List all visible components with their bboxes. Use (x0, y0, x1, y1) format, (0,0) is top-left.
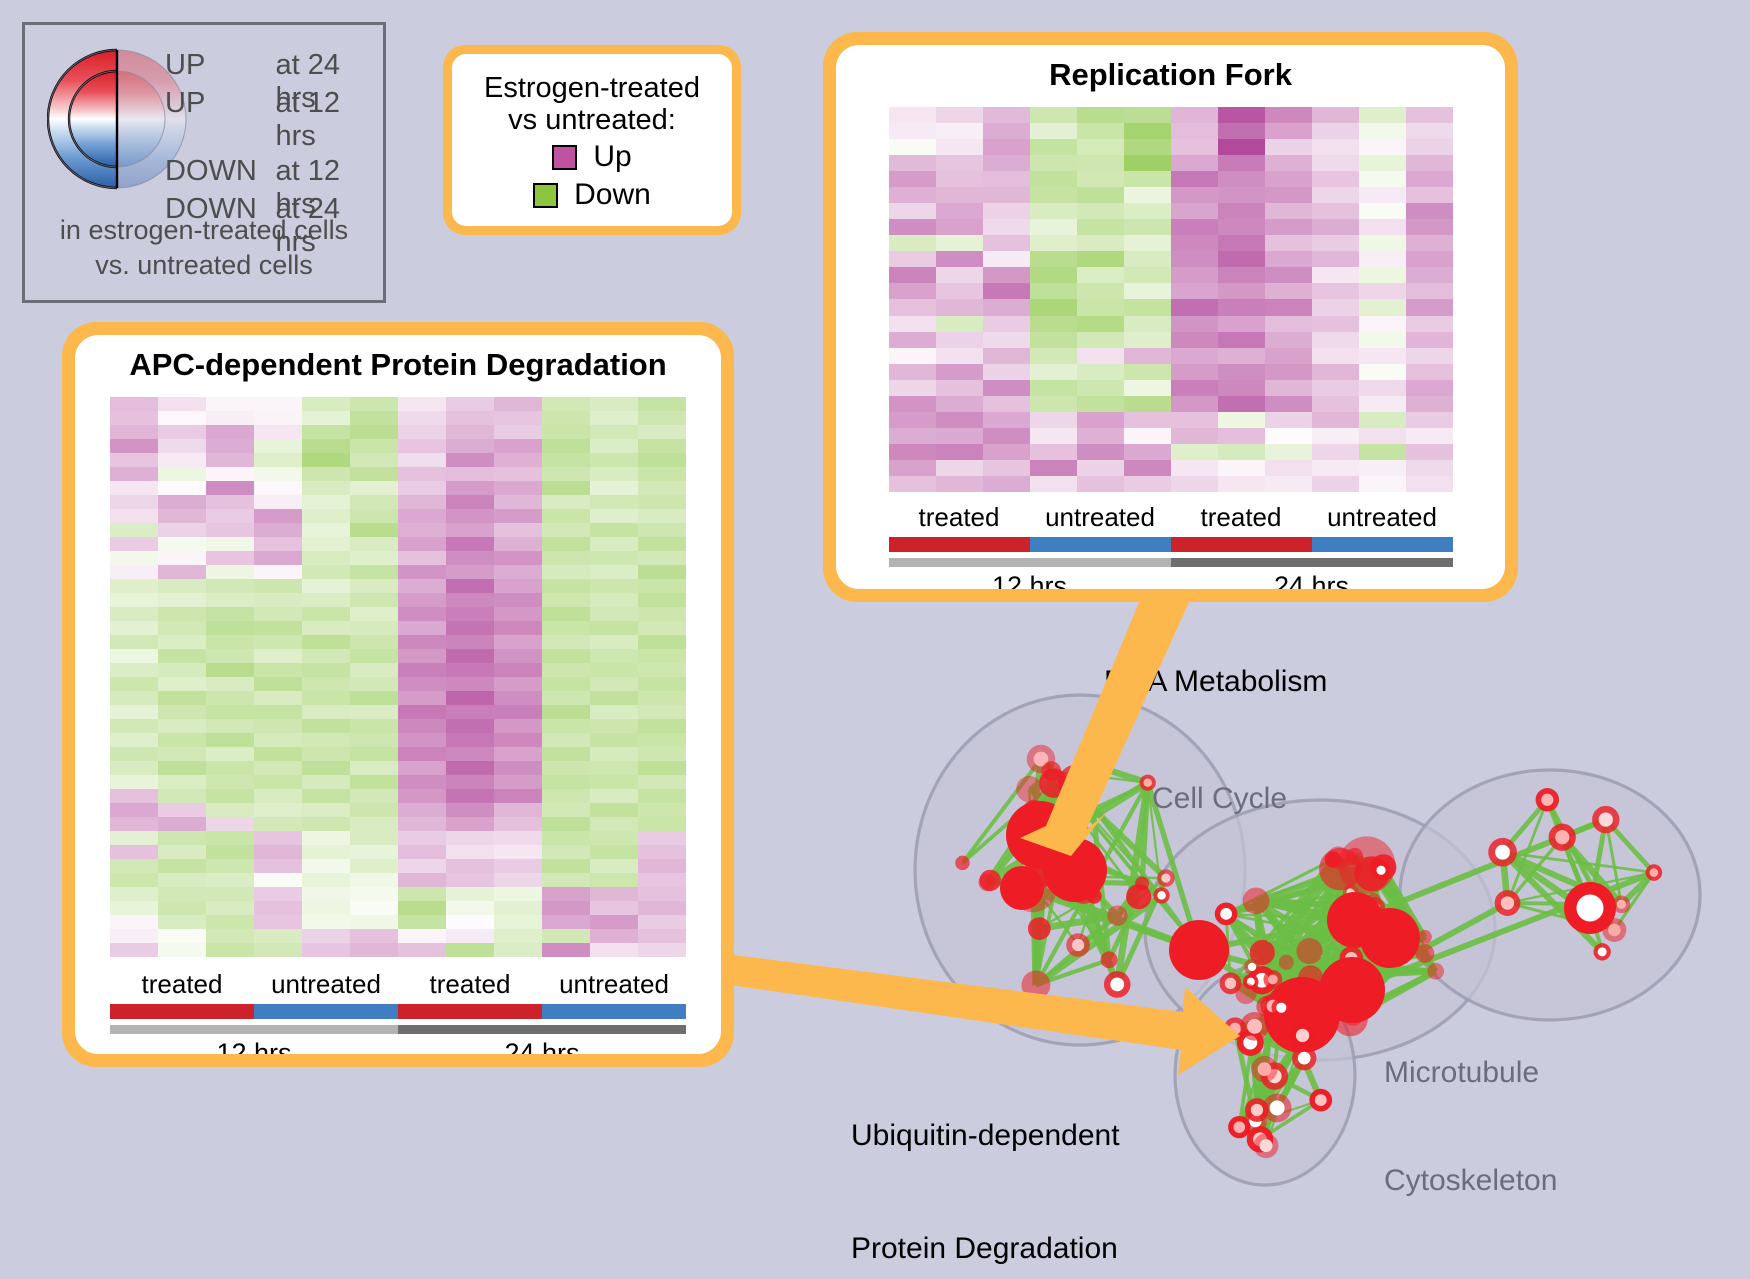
heatmap-cell (542, 705, 590, 719)
heatmap-cell (494, 579, 542, 593)
heatmap-cell (1030, 203, 1077, 219)
heatmap-cell (398, 761, 446, 775)
heatmap-cell (1077, 444, 1124, 460)
heatmap-cell (1124, 412, 1171, 428)
heatmap-cell (1312, 348, 1359, 364)
heatmap-cell (542, 901, 590, 915)
heatmap-cell (158, 705, 206, 719)
heatmap-cell (110, 887, 158, 901)
heatmap-cell (158, 943, 206, 957)
heatmap-cell (110, 621, 158, 635)
heatmap-cell (1406, 428, 1453, 444)
heatmap-cell (494, 523, 542, 537)
heatmap-cell (446, 523, 494, 537)
heatmap-cell (1265, 139, 1312, 155)
heatmap-cell (889, 476, 936, 492)
legend-row: UP at 24 hrs (165, 49, 383, 87)
heatmap-cell (158, 845, 206, 859)
heatmap-cell (110, 831, 158, 845)
heatmap-cell (590, 635, 638, 649)
heatmap-cell (110, 439, 158, 453)
heatmap-cell (206, 691, 254, 705)
heatmap-cell (350, 579, 398, 593)
heatmap-cell (1124, 476, 1171, 492)
heatmap-cell (590, 831, 638, 845)
heatmap-cell (542, 481, 590, 495)
heatmap-cell (983, 139, 1030, 155)
heatmap-cell (1265, 187, 1312, 203)
heatmap-cell (254, 901, 302, 915)
network-node (1028, 917, 1051, 940)
heatmap-cell (1312, 123, 1359, 139)
heatmap-cell (542, 873, 590, 887)
heatmap-cell (206, 789, 254, 803)
heatmap-cell (350, 677, 398, 691)
heatmap-cell (254, 705, 302, 719)
axis-group-swatch-treated (398, 1004, 542, 1019)
heatmap-cell (1312, 460, 1359, 476)
network-node (978, 874, 995, 891)
heatmap-cell (889, 396, 936, 412)
axis-group-swatch-untreated (1312, 537, 1453, 552)
heatmap-cell (1218, 187, 1265, 203)
heatmap-cell (590, 901, 638, 915)
heatmap-cell (983, 460, 1030, 476)
heatmap-cell (1124, 187, 1171, 203)
heatmap-cell (110, 929, 158, 943)
heatmap-cell (494, 943, 542, 957)
network-node (1592, 806, 1619, 833)
cluster-label-line1: Ubiquitin-dependent (851, 1117, 1120, 1155)
heatmap-cell (110, 523, 158, 537)
heatmap-cell (350, 873, 398, 887)
heatmap-cell (1312, 267, 1359, 283)
heatmap-cell (1312, 107, 1359, 123)
heatmap-cell (1171, 380, 1218, 396)
legend-down-label: Down (574, 178, 651, 212)
heatmap-cell (110, 649, 158, 663)
heatmap-cell (590, 789, 638, 803)
heatmap-cell (206, 495, 254, 509)
heatmap-cell (1359, 299, 1406, 315)
legend-direction-label: UP (165, 87, 276, 120)
heatmap-cell (983, 364, 1030, 380)
heatmap-cell (1218, 396, 1265, 412)
heatmap-cell (1312, 299, 1359, 315)
heatmap-cell (638, 593, 686, 607)
heatmap-cell (638, 635, 686, 649)
heatmap-cell (254, 621, 302, 635)
heatmap-cell (206, 705, 254, 719)
heatmap-cell (158, 635, 206, 649)
heatmap-cell (638, 579, 686, 593)
heatmap-cell (254, 397, 302, 411)
heatmap-cell (158, 901, 206, 915)
heatmap-cell (1359, 283, 1406, 299)
heatmap-cell (254, 887, 302, 901)
heatmap-cell (1171, 203, 1218, 219)
heatmap-cell (983, 316, 1030, 332)
heatmap-cell (206, 677, 254, 691)
heatmap-cell (590, 705, 638, 719)
cluster-label-cell-cycle: Cell Cycle (1152, 782, 1287, 816)
heatmap-cell (590, 453, 638, 467)
heatmap-cell (542, 453, 590, 467)
heatmap-cell (1077, 235, 1124, 251)
heatmap-cell (398, 733, 446, 747)
heatmap-cell (302, 579, 350, 593)
heatmap-cell (254, 495, 302, 509)
heatmap-cell (398, 663, 446, 677)
panel-title: Replication Fork (836, 45, 1505, 93)
heatmap-cell (1265, 380, 1312, 396)
heatmap-cell (494, 439, 542, 453)
heatmap-cell (1124, 235, 1171, 251)
heatmap-cell (1077, 316, 1124, 332)
heatmap-cell (158, 467, 206, 481)
axis-group-swatch-untreated (254, 1004, 398, 1019)
heatmap-cell (1030, 235, 1077, 251)
heatmap-cell (206, 873, 254, 887)
heatmap-cell (158, 775, 206, 789)
heatmap-cell (254, 943, 302, 957)
heatmap-cell (446, 579, 494, 593)
heatmap-cell (638, 915, 686, 929)
heatmap-cell (590, 761, 638, 775)
heatmap-cell (983, 444, 1030, 460)
heatmap-cell (889, 412, 936, 428)
heatmap-cell (1312, 428, 1359, 444)
heatmap-cell (1218, 219, 1265, 235)
heatmap-cell (1406, 107, 1453, 123)
axis-time-swatch-12h (110, 1025, 398, 1034)
heatmap-cell (254, 635, 302, 649)
heatmap-cell (542, 733, 590, 747)
legend-time-label: at 12 hrs (276, 87, 384, 153)
network-node (1240, 1012, 1269, 1041)
heatmap-cell (590, 943, 638, 957)
heatmap-cell (398, 467, 446, 481)
heatmap-cell (206, 621, 254, 635)
heatmap-axis-apc: treated untreated treated untreated 12 h (110, 969, 686, 1054)
heatmap-cell (494, 831, 542, 845)
heatmap-cell (889, 139, 936, 155)
panel-title: APC-dependent Protein Degradation (75, 335, 721, 383)
heatmap-cell (302, 453, 350, 467)
axis-group-swatch-treated (110, 1004, 254, 1019)
heatmap-cell (1124, 155, 1171, 171)
heatmap-cell (206, 719, 254, 733)
cluster-label-dna-metabolism: DNA Metabolism (1104, 665, 1327, 699)
heatmap-cell (494, 691, 542, 705)
heatmap-cell (350, 453, 398, 467)
heatmap-cell (1218, 460, 1265, 476)
heatmap-cell (494, 775, 542, 789)
heatmap-cell (206, 509, 254, 523)
legend-caption-line2: vs. untreated cells (25, 248, 383, 283)
legend-circles-panel: UP at 24 hrs UP at 12 hrs DOWN at 12 hrs… (22, 22, 386, 303)
heatmap-cell (254, 663, 302, 677)
heatmap-cell (494, 537, 542, 551)
heatmap-cell (302, 663, 350, 677)
heatmap-cell (542, 761, 590, 775)
heatmap-cell (1312, 412, 1359, 428)
heatmap-cell (206, 635, 254, 649)
heatmap-cell (302, 733, 350, 747)
network-node (1536, 788, 1559, 811)
heatmap-cell (983, 396, 1030, 412)
heatmap-cell (1218, 380, 1265, 396)
heatmap-cell (1077, 171, 1124, 187)
heatmap-cell (302, 467, 350, 481)
heatmap-cell (158, 677, 206, 691)
heatmap-cell (398, 859, 446, 873)
heatmap-cell (638, 677, 686, 691)
heatmap-cell (494, 467, 542, 481)
heatmap-cell (302, 761, 350, 775)
heatmap-cell (302, 845, 350, 859)
heatmap-cell (1265, 396, 1312, 412)
heatmap-cell (983, 203, 1030, 219)
heatmap-cell (158, 887, 206, 901)
heatmap-cell (1030, 396, 1077, 412)
heatmap-cell (158, 523, 206, 537)
heatmap-cell (1312, 235, 1359, 251)
heatmap-cell (983, 412, 1030, 428)
heatmap-cell (446, 817, 494, 831)
heatmap-cell (350, 593, 398, 607)
heatmap-cell (1124, 203, 1171, 219)
heatmap-cell (350, 943, 398, 957)
network-node (1021, 971, 1050, 1000)
heatmap-cell (398, 719, 446, 733)
heatmap-cell (889, 219, 936, 235)
heatmap-cell (398, 495, 446, 509)
heatmap-cell (1030, 348, 1077, 364)
heatmap-cell (110, 495, 158, 509)
heatmap-cell (110, 481, 158, 495)
heatmap-cell (542, 593, 590, 607)
heatmap-cell (1359, 460, 1406, 476)
heatmap-cell (936, 380, 983, 396)
axis-group-name: treated (1171, 502, 1312, 533)
heatmap-cell (302, 915, 350, 929)
network-node (1107, 905, 1128, 926)
heatmap-cell (350, 719, 398, 733)
heatmap-cell (302, 887, 350, 901)
heatmap-cell (1077, 348, 1124, 364)
heatmap-cell (1359, 396, 1406, 412)
heatmap-cell (1359, 380, 1406, 396)
heatmap-cell (254, 803, 302, 817)
heatmap-cell (1359, 428, 1406, 444)
heatmap-cell (542, 551, 590, 565)
heatmap-cell (1312, 332, 1359, 348)
heatmap-cell (1406, 476, 1453, 492)
heatmap-cell (1171, 444, 1218, 460)
heatmap-cell (350, 761, 398, 775)
heatmap-cell (302, 593, 350, 607)
heatmap-cell (1312, 316, 1359, 332)
cluster-label-line2: Cytoskeleton (1384, 1163, 1557, 1199)
heatmap-cell (254, 537, 302, 551)
heatmap-cell (206, 831, 254, 845)
network-node (1243, 888, 1270, 915)
heatmap-cell (446, 495, 494, 509)
heatmap-cell (398, 747, 446, 761)
heatmap-cell (350, 523, 398, 537)
heatmap-cell (1406, 155, 1453, 171)
heatmap-cell (1312, 476, 1359, 492)
heatmap-cell (254, 411, 302, 425)
heatmap-cell (936, 396, 983, 412)
heatmap-cell (889, 283, 936, 299)
heatmap-cell (1030, 476, 1077, 492)
heatmap-cell (1171, 171, 1218, 187)
heatmap-cell (446, 873, 494, 887)
heatmap-cell (446, 901, 494, 915)
heatmap-cell (302, 747, 350, 761)
heatmap-cell (1359, 155, 1406, 171)
heatmap-cell (1030, 428, 1077, 444)
heatmap-cell (302, 719, 350, 733)
heatmap-cell (590, 565, 638, 579)
heatmap-cell (590, 579, 638, 593)
heatmap-cell (889, 444, 936, 460)
up-swatch-icon (552, 145, 577, 170)
heatmap-cell (158, 439, 206, 453)
heatmap-cell (1171, 348, 1218, 364)
heatmap-cell (638, 649, 686, 663)
axis-group-colorbar (889, 537, 1453, 552)
heatmap-cell (254, 481, 302, 495)
heatmap-cell (206, 929, 254, 943)
heatmap-cell (1124, 171, 1171, 187)
heatmap-cell (889, 428, 936, 444)
heatmap-cell (398, 775, 446, 789)
heatmap-cell (398, 705, 446, 719)
heatmap-cell (638, 411, 686, 425)
heatmap-cell (494, 607, 542, 621)
heatmap-cell (494, 551, 542, 565)
heatmap-cell (350, 663, 398, 677)
legend-up-label: Up (593, 140, 631, 174)
heatmap-cell (1030, 267, 1077, 283)
heatmap-cell (158, 621, 206, 635)
heatmap-cell (1406, 235, 1453, 251)
heatmap-cell (1124, 348, 1171, 364)
heatmap-cell (1359, 316, 1406, 332)
heatmap-cell (398, 803, 446, 817)
heatmap-cell (936, 364, 983, 380)
heatmap-cell (110, 607, 158, 621)
heatmap-cell (350, 649, 398, 663)
heatmap-cell (638, 761, 686, 775)
heatmap-cell (446, 775, 494, 789)
heatmap-cell (158, 551, 206, 565)
heatmap-cell (638, 705, 686, 719)
heatmap-cell (206, 607, 254, 621)
heatmap-cell (350, 929, 398, 943)
heatmap-cell (254, 859, 302, 873)
heatmap-cell (1124, 364, 1171, 380)
network-node (1080, 756, 1097, 773)
axis-group-swatch-untreated (542, 1004, 686, 1019)
network-node (1169, 920, 1229, 980)
heatmap-cell (936, 139, 983, 155)
network-node (955, 856, 969, 870)
heatmap-cell (398, 817, 446, 831)
heatmap-cell (446, 733, 494, 747)
heatmap-cell (1124, 299, 1171, 315)
heatmap-cell (302, 621, 350, 635)
heatmap-cell (398, 397, 446, 411)
heatmap-cell (1218, 316, 1265, 332)
axis-group-name: untreated (1030, 502, 1171, 533)
legend-updown-title-line1: Estrogen-treated (484, 72, 700, 104)
heatmap-cell (1077, 187, 1124, 203)
heatmap-cell (398, 593, 446, 607)
heatmap-cell (590, 663, 638, 677)
heatmap-cell (446, 453, 494, 467)
heatmap-cell (158, 761, 206, 775)
heatmap-cell (1124, 396, 1171, 412)
heatmap-cell (590, 929, 638, 943)
heatmap-cell (110, 733, 158, 747)
heatmap-cell (590, 481, 638, 495)
heatmap-cell (638, 845, 686, 859)
heatmap-cell (206, 901, 254, 915)
heatmap-cell (542, 537, 590, 551)
heatmap-cell (1218, 444, 1265, 460)
heatmap-cell (1359, 107, 1406, 123)
heatmap-cell (1359, 364, 1406, 380)
heatmap-cell (542, 845, 590, 859)
heatmap-cell (542, 635, 590, 649)
heatmap-cell (302, 509, 350, 523)
heatmap-cell (398, 607, 446, 621)
heatmap-cell (936, 412, 983, 428)
heatmap-cell (398, 509, 446, 523)
heatmap-cell (1218, 107, 1265, 123)
heatmap-cell (494, 495, 542, 509)
heatmap-cell (302, 397, 350, 411)
heatmap-cell (158, 831, 206, 845)
heatmap-cell (110, 537, 158, 551)
legend-direction-label: DOWN (165, 155, 276, 188)
heatmap-cell (542, 467, 590, 481)
heatmap-cell (590, 817, 638, 831)
heatmap-cell (494, 425, 542, 439)
heatmap-cell (1265, 283, 1312, 299)
heatmap-cell (446, 831, 494, 845)
heatmap-cell (542, 397, 590, 411)
heatmap-cell (638, 859, 686, 873)
heatmap-cell (638, 831, 686, 845)
heatmap-cell (1359, 123, 1406, 139)
heatmap-cell (254, 649, 302, 663)
heatmap-cell (158, 397, 206, 411)
network-node (1016, 776, 1042, 802)
heatmap-cell (590, 775, 638, 789)
heatmap-cell (889, 235, 936, 251)
heatmap-cell (1124, 219, 1171, 235)
axis-group-name: untreated (542, 969, 686, 1000)
heatmap-cell (350, 467, 398, 481)
heatmap-cell (158, 915, 206, 929)
heatmap-cell (206, 803, 254, 817)
heatmap-cell (110, 915, 158, 929)
